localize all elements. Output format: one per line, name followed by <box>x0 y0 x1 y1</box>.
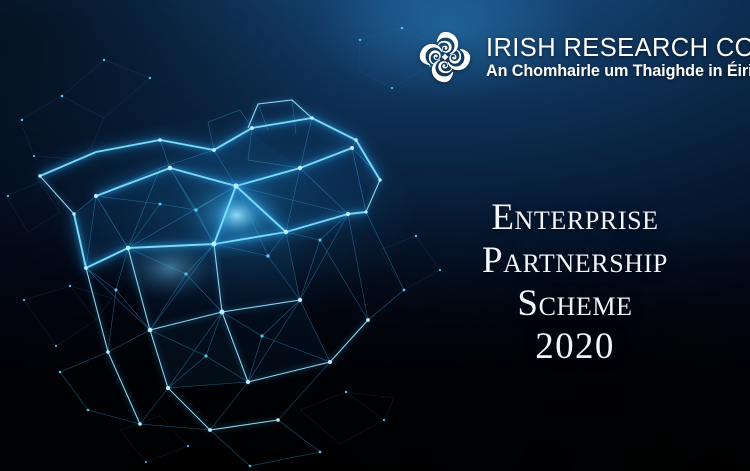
irish-research-council-logo: IRISH RESEARCH COUNCIL An Chomhairle um … <box>414 26 750 88</box>
headline-line-2: Partnership <box>400 239 750 282</box>
headline-line-3: Scheme <box>400 282 750 325</box>
headline-block: Enterprise Partnership Scheme 2020 <box>400 196 750 369</box>
logo-text-block: IRISH RESEARCH COUNCIL An Chomhairle um … <box>486 33 750 81</box>
logo-subtitle: An Chomhairle um Thaighde in Éirinn <box>486 61 750 81</box>
headline-year: 2020 <box>400 325 750 369</box>
celtic-knot-icon <box>414 26 476 88</box>
banner-image: IRISH RESEARCH COUNCIL An Chomhairle um … <box>0 0 750 471</box>
headline-line-1: Enterprise <box>400 196 750 239</box>
logo-title: IRISH RESEARCH COUNCIL <box>486 35 750 61</box>
wireframe-hands-artwork <box>0 0 460 471</box>
